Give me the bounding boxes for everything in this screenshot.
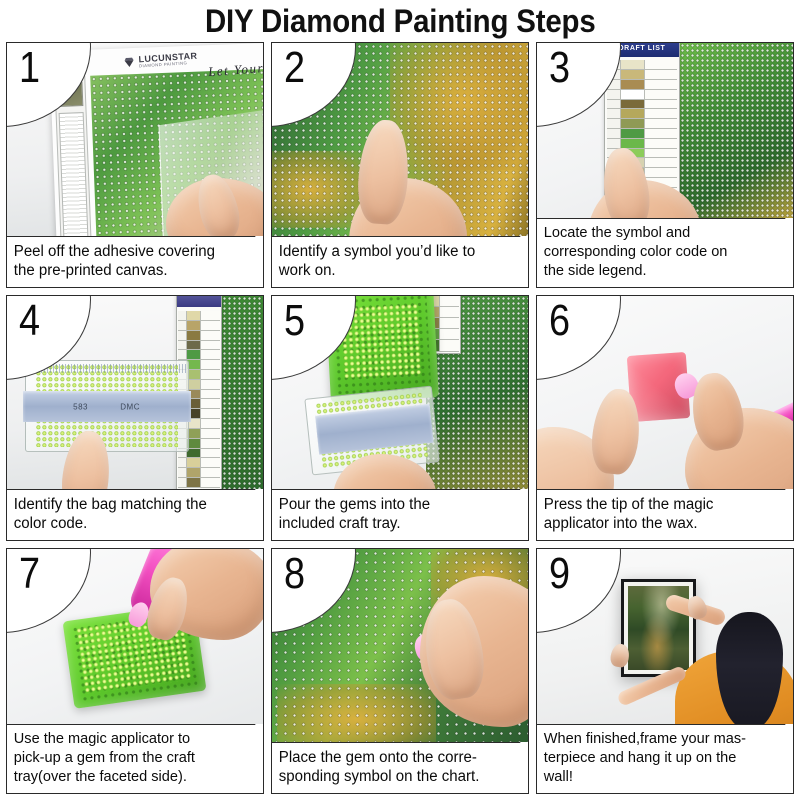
step-caption-4: Identify the bag matching the color code… — [7, 489, 255, 540]
steps-grid: LUCUNSTAR DIAMOND PAINTING Let Your 1 Pe… — [0, 42, 800, 800]
step-number-7: 7 — [19, 551, 40, 597]
step-number-6: 6 — [549, 298, 570, 344]
step-number-1: 1 — [19, 45, 40, 91]
page-title: DIY Diamond Painting Steps — [205, 3, 596, 40]
step-number-9: 9 — [549, 551, 570, 597]
step-caption-3: Locate the symbol and corresponding colo… — [537, 218, 785, 287]
step-photo-4: 583 DMC 4 — [7, 296, 263, 489]
step-cell-8: 8 Place the gem onto the corre- sponding… — [271, 548, 529, 794]
step-cell-5: 5 Pour the gems into the included craft … — [271, 295, 529, 541]
brand-logo: LUCUNSTAR DIAMOND PAINTING — [122, 52, 198, 70]
step-number-4: 4 — [19, 298, 40, 344]
bag-label-number: 583 — [73, 402, 88, 411]
step-cell-1: LUCUNSTAR DIAMOND PAINTING Let Your 1 Pe… — [6, 42, 264, 288]
step-number-8: 8 — [284, 551, 305, 597]
step-photo-5: 5 — [272, 296, 528, 489]
step-cell-3: DRAFT LIST — [536, 42, 794, 288]
bag-label: 583 DMC — [23, 391, 191, 422]
step-photo-2: 2 — [272, 43, 528, 236]
step-cell-2: 2 Identify a symbol you’d like to work o… — [271, 42, 529, 288]
step-caption-2: Identify a symbol you’d like to work on. — [272, 236, 520, 287]
step-number-2: 2 — [284, 45, 305, 91]
bag-label-code: DMC — [120, 402, 140, 411]
step-caption-6: Press the tip of the magic applicator in… — [537, 489, 785, 540]
step-cell-4: 583 DMC 4 Identify the bag matching the … — [6, 295, 264, 541]
step-caption-9: When finished,frame your mas- terpiece a… — [537, 724, 785, 793]
step-photo-1: LUCUNSTAR DIAMOND PAINTING Let Your 1 — [7, 43, 263, 236]
step-photo-3: DRAFT LIST — [537, 43, 793, 218]
step-caption-1: Peel off the adhesive covering the pre-p… — [7, 236, 255, 287]
step-caption-5: Pour the gems into the included craft tr… — [272, 489, 520, 540]
gem-bag: 583 DMC — [25, 360, 189, 453]
woman-hair — [716, 612, 783, 724]
step-cell-9: 9 When finished,frame your mas- terpiece… — [536, 548, 794, 794]
step-photo-9: 9 — [537, 549, 793, 724]
diamond-icon — [122, 57, 136, 69]
title-bar: DIY Diamond Painting Steps — [0, 0, 800, 42]
step-number-3: 3 — [549, 45, 570, 91]
step-cell-7: 7 Use the magic applicator to pick-up a … — [6, 548, 264, 794]
step-photo-7: 7 — [7, 549, 263, 724]
step-photo-6: 6 — [537, 296, 793, 489]
infographic-page: DIY Diamond Painting Steps — [0, 0, 800, 800]
step-cell-6: 6 Press the tip of the magic applicator … — [536, 295, 794, 541]
framed-painting — [621, 579, 695, 677]
step-caption-8: Place the gem onto the corre- sponding s… — [272, 742, 520, 793]
step-caption-7: Use the magic applicator to pick-up a ge… — [7, 724, 255, 793]
step-number-5: 5 — [284, 298, 305, 344]
step-photo-8: 8 — [272, 549, 528, 742]
